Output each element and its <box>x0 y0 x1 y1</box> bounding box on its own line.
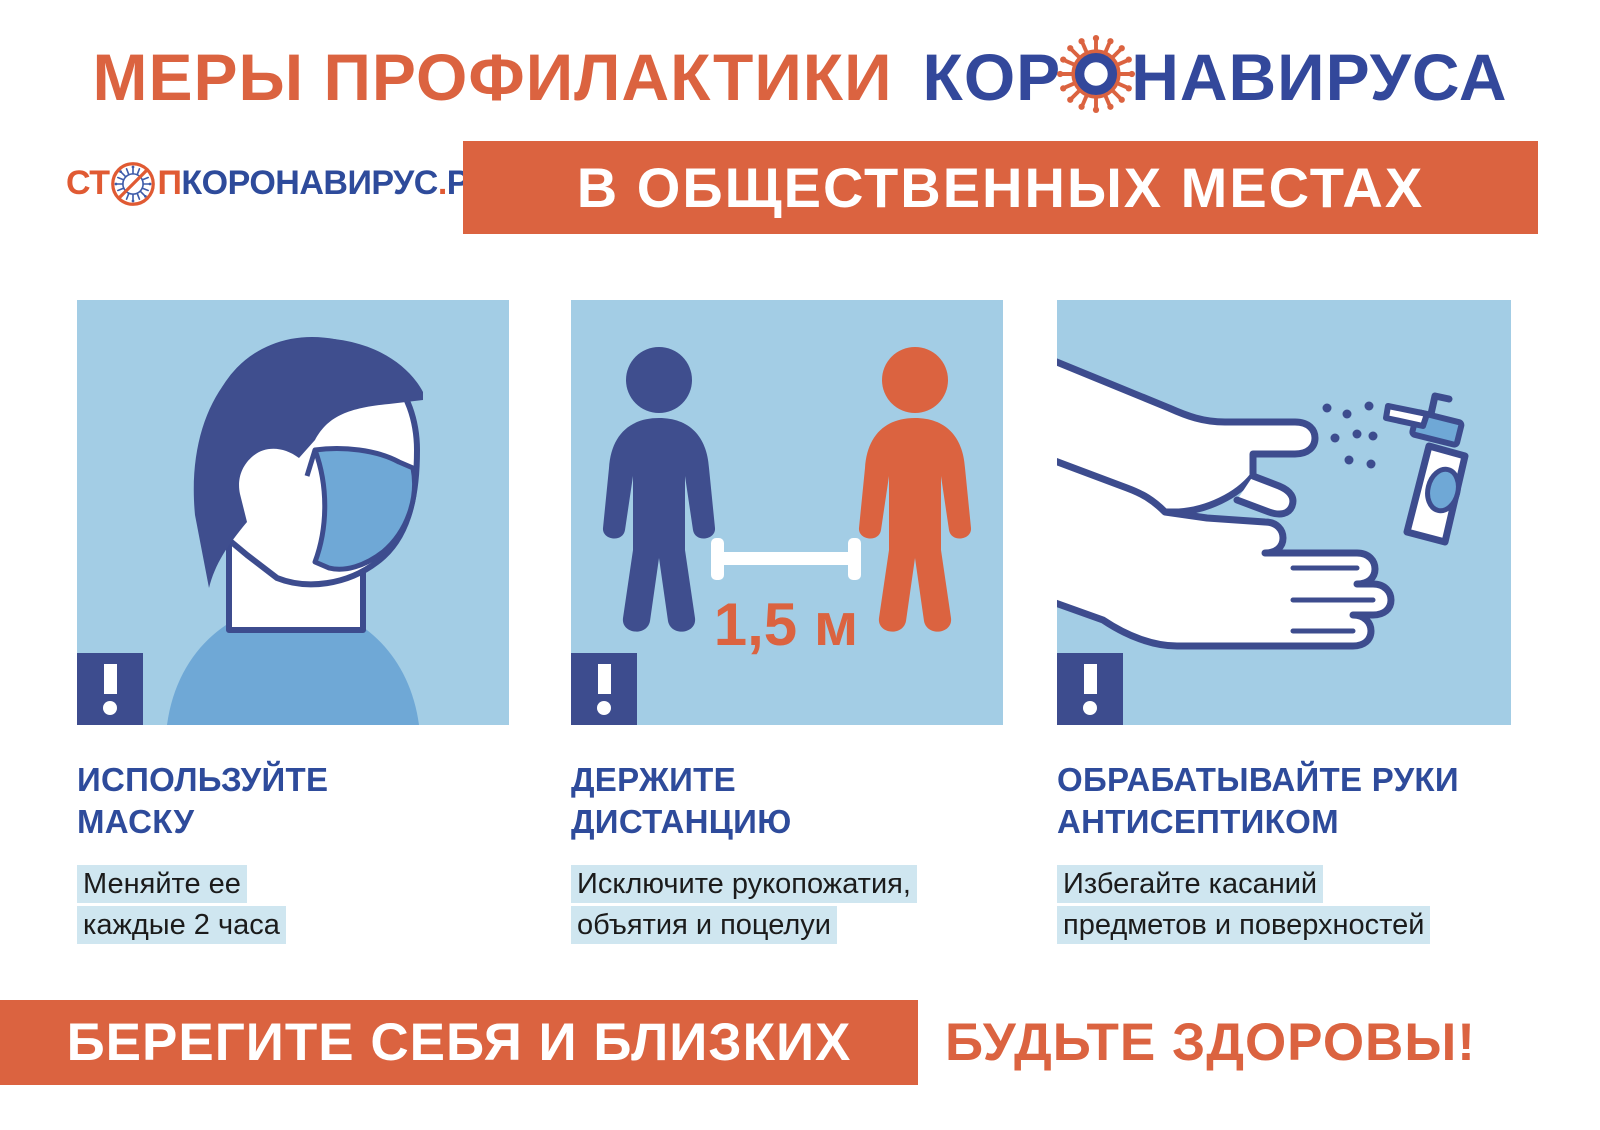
panel-heading: ИСПОЛЬЗУЙТЕ МАСКУ <box>77 759 509 842</box>
logo-part-coronavirus: КОРОНАВИРУС <box>181 166 437 200</box>
distance-label: 1,5 м <box>714 591 858 658</box>
hand-sanitizer-icon <box>1057 300 1511 725</box>
footer-left-text: БЕРЕГИТЕ СЕБЯ И БЛИЗКИХ <box>67 1016 852 1069</box>
panel-keep-distance: 1,5 м ДЕРЖИТЕ ДИСТАНЦИЮ Исключите рукопо… <box>571 300 1003 947</box>
person-orange-icon <box>859 347 971 632</box>
masked-person-illustration <box>77 300 509 725</box>
panel-note: Меняйте ее каждые 2 часа <box>77 864 509 946</box>
exclamation-bar <box>104 664 117 694</box>
footer-banner: БЕРЕГИТЕ СЕБЯ И БЛИЗКИХ <box>0 1000 918 1085</box>
exclamation-dot <box>597 701 611 715</box>
panel-use-mask: ИСПОЛЬЗУЙТЕ МАСКУ Меняйте ее каждые 2 ча… <box>77 300 509 947</box>
spray-bottle-icon <box>1386 396 1465 542</box>
stop-coronavirus-icon <box>110 161 156 207</box>
logo-part-st: СТ <box>66 166 109 200</box>
logo-part-dot: . <box>438 166 447 200</box>
footer-right-text: БУДЬТЕ ЗДОРОВЫ! <box>945 1000 1476 1085</box>
panel-heading: ДЕРЖИТЕ ДИСТАНЦИЮ <box>571 759 1003 842</box>
page-title: МЕРЫ ПРОФИЛАКТИКИКОР <box>0 38 1600 116</box>
exclamation-dot <box>1083 701 1097 715</box>
title-prefix-text: МЕРЫ ПРОФИЛАКТИКИ <box>92 44 892 110</box>
stopcoronavirus-logo[interactable]: СТ ПКОРОНАВИРУС.РФ <box>66 157 497 209</box>
panel-note: Исключите рукопожатия, объятия и поцелуи <box>571 864 1003 946</box>
exclamation-bar <box>598 664 611 694</box>
distance-bar-icon <box>711 538 861 580</box>
exclamation-bar <box>1084 664 1097 694</box>
panel-heading: ОБРАБАТЫВАЙТЕ РУКИ АНТИСЕПТИКОМ <box>1057 759 1511 842</box>
panel-note-text: Меняйте ее каждые 2 часа <box>77 865 286 944</box>
exclamation-badge <box>571 653 637 725</box>
exclamation-badge <box>1057 653 1123 725</box>
subtitle-banner: В ОБЩЕСТВЕННЫХ МЕСТАХ <box>463 141 1538 234</box>
panel-note-text: Исключите рукопожатия, объятия и поцелуи <box>571 865 917 944</box>
title-corona-part1: КОР <box>923 44 1062 110</box>
person-blue-icon <box>603 347 715 632</box>
logo-part-p: П <box>157 166 181 200</box>
coronavirus-icon <box>1057 35 1135 113</box>
spray-droplets-icon <box>1323 402 1378 469</box>
title-corona-part2: НАВИРУСА <box>1131 44 1507 110</box>
subtitle-text: В ОБЩЕСТВЕННЫХ МЕСТАХ <box>577 160 1424 216</box>
exclamation-dot <box>103 701 117 715</box>
panel-note-text: Избегайте касаний предметов и поверхност… <box>1057 865 1430 944</box>
exclamation-badge <box>77 653 143 725</box>
panel-note: Избегайте касаний предметов и поверхност… <box>1057 864 1511 946</box>
panel-sanitize-hands: ОБРАБАТЫВАЙТЕ РУКИ АНТИСЕПТИКОМ Избегайт… <box>1057 300 1511 947</box>
social-distance-illustration: 1,5 м <box>571 300 1003 725</box>
hand-sanitizer-illustration <box>1057 300 1511 725</box>
